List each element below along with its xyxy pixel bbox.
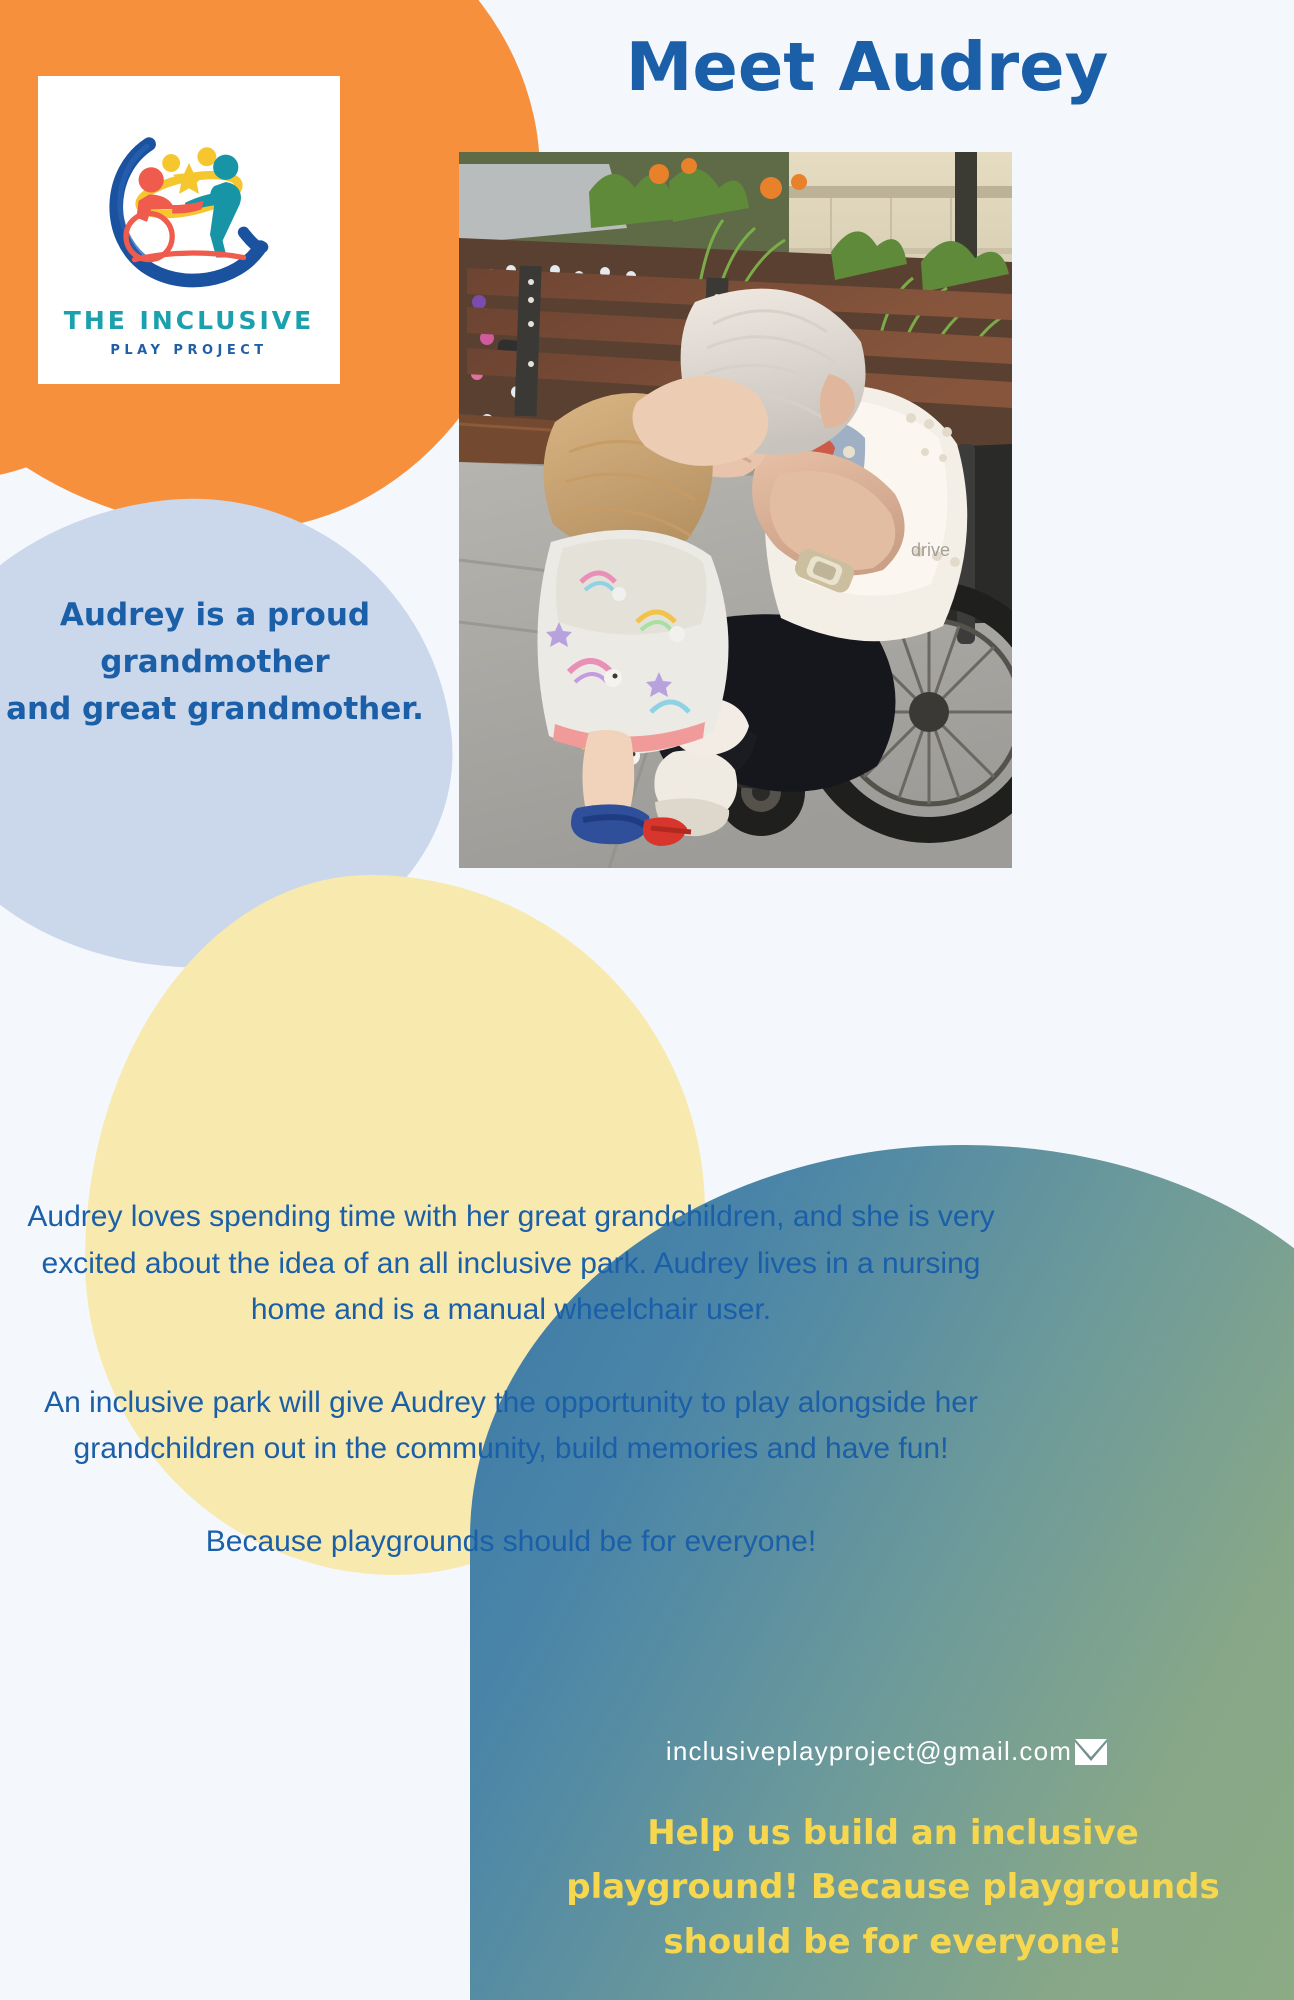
poster-canvas: THE INCLUSIVE PLAY PROJECT Meet Audrey	[0, 0, 1294, 2000]
body-copy-block: Audrey loves spending time with her grea…	[0, 1194, 1022, 1565]
inclusive-play-logo-icon	[84, 104, 294, 304]
body-paragraph-3: Because playgrounds should be for everyo…	[0, 1519, 1022, 1566]
body-paragraph-1: Audrey loves spending time with her grea…	[0, 1194, 1022, 1334]
call-to-action-block: Help us build an inclusive playground! B…	[492, 1806, 1294, 1969]
cta-line-3: should be for everyone!	[492, 1915, 1294, 1969]
photo-illustration: drive	[459, 152, 1012, 868]
quote-line-1: Audrey is a proud	[0, 592, 430, 639]
light-blue-quote-blob	[0, 473, 473, 997]
paragraph-spacer	[0, 1473, 1022, 1519]
envelope-icon	[1074, 1738, 1108, 1766]
quote-text-block: Audrey is a proud grandmother and great …	[0, 592, 430, 733]
svg-text:drive: drive	[911, 540, 950, 560]
body-paragraph-2: An inclusive park will give Audrey the o…	[0, 1380, 1022, 1473]
quote-line-2: grandmother	[0, 639, 430, 686]
cta-line-2: playground! Because playgrounds	[492, 1860, 1294, 1914]
logo-title: THE INCLUSIVE	[64, 308, 314, 333]
quote-line-3: and great grandmother.	[0, 686, 430, 733]
contact-email-row[interactable]: inclusiveplayproject@gmail.com	[480, 1736, 1294, 1767]
page-title: Meet Audrey	[440, 28, 1294, 106]
logo-subtitle: PLAY PROJECT	[64, 344, 314, 357]
cta-line-1: Help us build an inclusive	[492, 1806, 1294, 1860]
paragraph-spacer	[0, 1334, 1022, 1380]
contact-email-address[interactable]: inclusiveplayproject@gmail.com	[666, 1736, 1072, 1767]
audrey-photo: drive	[459, 152, 1012, 868]
organization-logo-card: THE INCLUSIVE PLAY PROJECT	[38, 76, 340, 384]
logo-wordmark: THE INCLUSIVE PLAY PROJECT	[64, 308, 314, 357]
